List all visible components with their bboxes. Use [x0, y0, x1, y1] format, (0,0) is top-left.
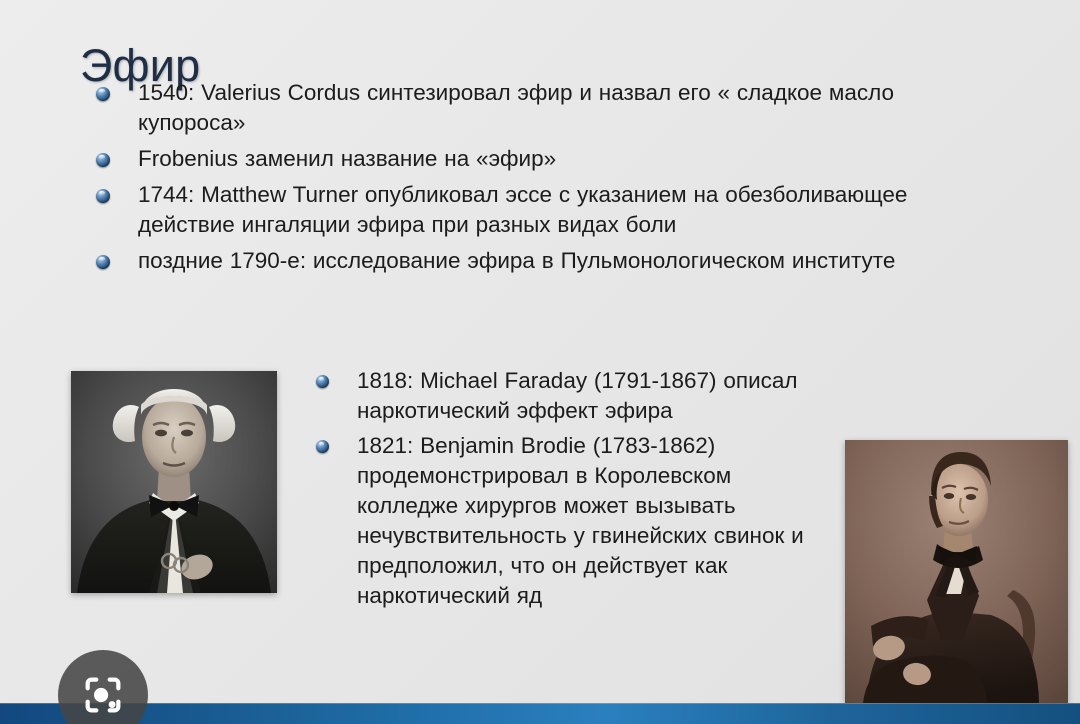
slide-canvas: Эфир 1540: Valerius Cordus синтезировал … — [0, 0, 1080, 724]
list-item: Frobenius заменил название на «эфир» — [88, 144, 978, 174]
bullet-sphere-icon — [316, 375, 329, 388]
list-item: 1821: Benjamin Brodie (1783-1862) продем… — [310, 431, 830, 611]
bullet-sphere-icon — [96, 255, 110, 269]
list-item: 1744: Matthew Turner опубликовал эссе с … — [88, 180, 978, 240]
google-lens-button[interactable] — [58, 650, 148, 724]
list-item-label: 1744: Matthew Turner опубликовал эссе с … — [138, 180, 978, 240]
list-item-label: 1540: Valerius Cordus синтезировал эфир … — [138, 78, 978, 138]
list-item: 1818: Michael Faraday (1791-1867) описал… — [310, 366, 830, 426]
bullet-sphere-icon — [96, 87, 110, 101]
list-item-label: поздние 1790-е: исследование эфира в Пул… — [138, 246, 978, 276]
bullet-sphere-icon — [316, 440, 329, 453]
sub-bullet-list: 1818: Michael Faraday (1791-1867) описал… — [310, 366, 830, 616]
bullet-sphere-icon — [96, 189, 110, 203]
portrait-brodie-image — [845, 440, 1068, 703]
list-item: поздние 1790-е: исследование эфира в Пул… — [88, 246, 978, 276]
portrait-faraday-image — [71, 371, 277, 593]
main-bullet-list: 1540: Valerius Cordus синтезировал эфир … — [88, 78, 978, 282]
bullet-sphere-icon — [96, 153, 110, 167]
footer-band — [0, 703, 1080, 724]
list-item-label: 1818: Michael Faraday (1791-1867) описал… — [357, 366, 830, 426]
list-item: 1540: Valerius Cordus синтезировал эфир … — [88, 78, 978, 138]
list-item-label: Frobenius заменил название на «эфир» — [138, 144, 978, 174]
lens-icon — [80, 672, 126, 718]
list-item-label: 1821: Benjamin Brodie (1783-1862) продем… — [357, 431, 830, 611]
